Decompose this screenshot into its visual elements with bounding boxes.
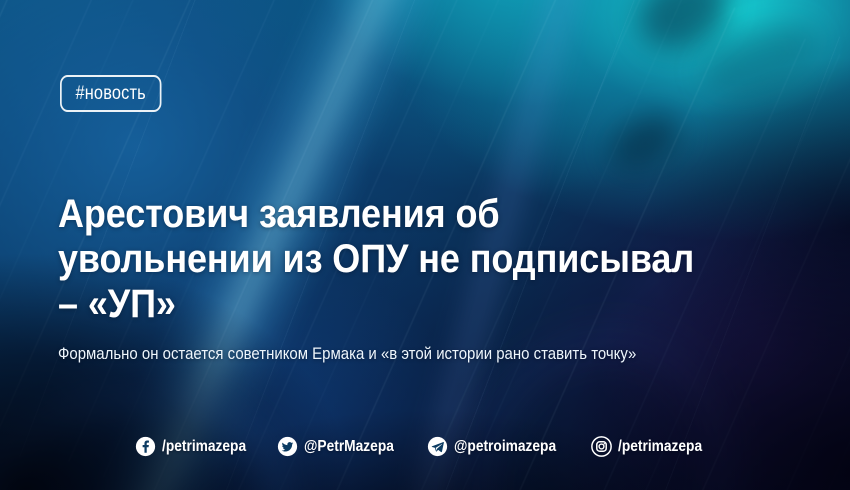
subtitle-text: Формально он остается советником Ермака … bbox=[58, 343, 727, 365]
social-link-twitter[interactable]: @PetrMazepa bbox=[277, 436, 409, 457]
social-handle: /petrimazepa bbox=[162, 438, 246, 456]
social-link-facebook[interactable]: /petrimazepa bbox=[135, 436, 260, 457]
social-handle: /petrimazepa bbox=[618, 438, 702, 456]
instagram-icon bbox=[591, 436, 612, 457]
social-links-bar: /petrimazepa @PetrMazepa @petroimazepa bbox=[0, 436, 850, 457]
social-link-instagram[interactable]: /petrimazepa bbox=[591, 436, 716, 457]
twitter-icon bbox=[277, 436, 298, 457]
page-title: Арестович заявления об увольнении из ОПУ… bbox=[58, 192, 720, 327]
social-handle: @petroimazepa bbox=[454, 438, 556, 456]
social-handle: @PetrMazepa bbox=[304, 438, 394, 456]
news-card: #новость Арестович заявления об увольнен… bbox=[0, 0, 850, 490]
telegram-icon bbox=[427, 436, 448, 457]
card-content: #новость Арестович заявления об увольнен… bbox=[0, 0, 850, 490]
category-tag[interactable]: #новость bbox=[60, 75, 161, 112]
social-link-telegram[interactable]: @petroimazepa bbox=[427, 436, 573, 457]
facebook-icon bbox=[135, 436, 156, 457]
